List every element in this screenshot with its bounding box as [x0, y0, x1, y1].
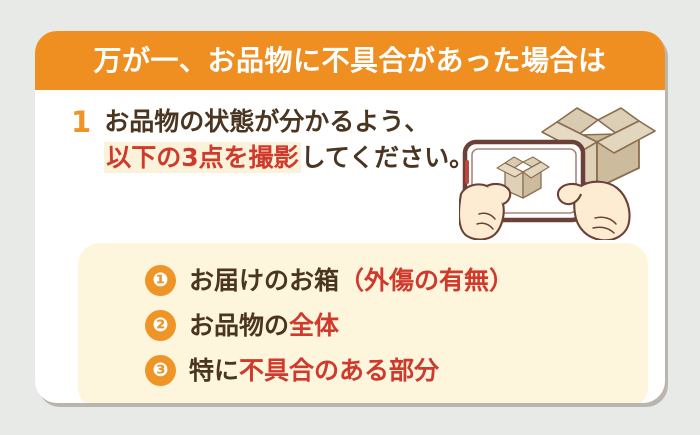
step-one-line-2-rest: してください。: [301, 143, 475, 172]
step-one-block: 1 お品物の状態が分かるよう、 以下の3点を撮影してください。: [71, 104, 541, 175]
photo-list: ❶ お届けのお箱（外傷の有無） ❷ お品物の全体 ❸ 特に不具合のある部分: [145, 258, 514, 393]
page-title: 万が一、お品物に不具合があった場合は: [93, 47, 606, 75]
list-item-badge-2: ❷: [145, 310, 176, 341]
list-item-badge-3: ❸: [145, 355, 176, 386]
list-item-text-1: お届けのお箱（外傷の有無）: [189, 268, 514, 293]
step-one-highlighted-text: 以下の3点を撮影: [104, 142, 300, 173]
list-item-text-2: お品物の全体: [189, 313, 339, 338]
photo-list-panel: ❶ お届けのお箱（外傷の有無） ❷ お品物の全体 ❸ 特に不具合のある部分: [78, 243, 648, 403]
step-one-number: 1: [71, 104, 91, 140]
list-item-text-3-accent: 不具合のある部分: [239, 356, 439, 385]
card-body: 1 お品物の状態が分かるよう、 以下の3点を撮影してください。: [35, 90, 665, 403]
list-item-text-2-accent: 全体: [289, 311, 339, 340]
card-header: 万が一、お品物に不具合があった場合は: [35, 31, 665, 90]
list-item-text-3: 特に不具合のある部分: [189, 358, 439, 383]
step-one-line-1: お品物の状態が分かるよう、: [104, 104, 541, 140]
list-item: ❶ お届けのお箱（外傷の有無）: [145, 258, 514, 303]
list-item-badge-1: ❶: [145, 265, 176, 296]
list-item-text-2-normal: お品物の: [189, 311, 289, 340]
info-card: 万が一、お品物に不具合があった場合は 1 お品物の状態が分かるよう、 以下の3点…: [35, 31, 665, 403]
list-item-text-1-normal: お届けのお箱: [189, 266, 339, 295]
step-one-line-2: 以下の3点を撮影してください。: [104, 140, 541, 176]
step-one-row: 1 お品物の状態が分かるよう、 以下の3点を撮影してください。: [71, 104, 541, 175]
step-one-lines: お品物の状態が分かるよう、 以下の3点を撮影してください。: [104, 104, 541, 175]
list-item-text-1-accent: （外傷の有無）: [339, 266, 514, 295]
list-item-text-3-normal: 特に: [189, 356, 239, 385]
list-item: ❸ 特に不具合のある部分: [145, 348, 514, 393]
list-item: ❷ お品物の全体: [145, 303, 514, 348]
